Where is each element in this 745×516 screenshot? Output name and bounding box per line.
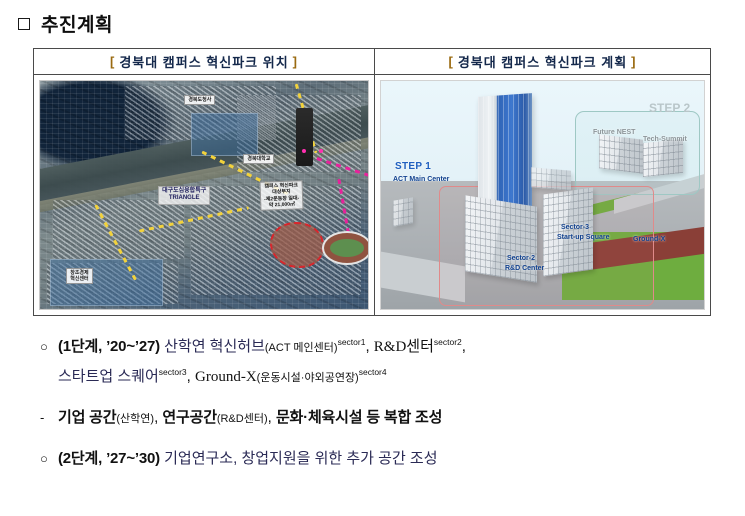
phase2-text: 기업연구소, 창업지원을 위한 추가 공간 조성 — [164, 450, 437, 467]
bullet-spaces-body: 기업 공간(산학연), 연구공간(R&D센터), 문화·체육시설 등 복합 조성 — [58, 405, 720, 432]
bullet-marker: ○ — [40, 334, 58, 360]
render-label-future-nest: Future NEST — [593, 129, 635, 138]
figure-caption-row: [ 경북대 캠퍼스 혁신파크 위치 ] [ 경북대 캠퍼스 혁신파크 계획 ] — [34, 49, 710, 75]
background-building — [393, 197, 413, 227]
spaces-paren-a: (산학연) — [116, 413, 154, 425]
bracket-open-right: [ — [444, 54, 457, 69]
render-label-ground-x: Ground-X — [633, 236, 665, 245]
bullet-item-spaces: - 기업 공간(산학연), 연구공간(R&D센터), 문화·체육시설 등 복합 … — [40, 405, 720, 432]
phase1-text-b: R&D센터 — [374, 339, 434, 355]
dash-marker: - — [40, 405, 58, 431]
future-nest-building — [599, 134, 643, 173]
bracket-open-left: [ — [106, 54, 119, 69]
phase1-sup-sector4: sector4 — [359, 367, 387, 377]
phase1-comma-2: , — [462, 338, 466, 355]
sports-track — [322, 231, 369, 265]
phase1-comma-3: , — [187, 368, 191, 385]
phase1-line2-b: Ground-X — [195, 369, 257, 385]
phase1-line2-paren: (운동시설·야외공연장) — [257, 372, 359, 384]
phase1-sup-sector1: sector1 — [338, 337, 366, 347]
masterplan-render-image: STEP 1 ACT Main Center STEP 2 Future NES… — [380, 80, 705, 310]
bullet-item-phase1: ○ (1단계, ’20~’27) 산학연 혁신허브(ACT 메인센터)secto… — [40, 334, 720, 391]
phase1-sup-sector3: sector3 — [159, 367, 187, 377]
render-label-step1: STEP 1 — [395, 161, 431, 174]
render-label-step1-sub: ACT Main Center — [393, 176, 449, 185]
page-title: 추진계획 — [41, 10, 113, 37]
bullet-phase1-line2: 스타트업 스퀘어sector3, Ground-X(운동시설·야외공연장)sec… — [58, 364, 720, 391]
render-label-sector3: Sector-3 — [561, 224, 589, 233]
render-label-sector2: Sector-2 — [507, 255, 535, 264]
figure-media-row: 경북도청사 경북대학교 대구도심융합특구 TRIANGLE 캠퍼스 혁신파크 대… — [34, 75, 710, 315]
caption-right-text: 경북대 캠퍼스 혁신파크 계획 — [458, 52, 627, 71]
render-label-step2: STEP 2 — [649, 101, 690, 116]
bullet-marker: ○ — [40, 446, 58, 472]
right-figure-cell: STEP 1 ACT Main Center STEP 2 Future NES… — [375, 75, 710, 315]
phase2-label: (2단계, ’27~’30) — [58, 450, 160, 467]
body-text: ○ (1단계, ’20~’27) 산학연 혁신허브(ACT 메인센터)secto… — [40, 326, 720, 474]
bullet-phase1-body: (1단계, ’20~’27) 산학연 혁신허브(ACT 메인센터)sector1… — [58, 334, 720, 391]
spaces-comma-2: , — [268, 409, 272, 426]
phase1-text-a: 산학연 혁신허브 — [164, 338, 265, 355]
aerial-map-image: 경북도청사 경북대학교 대구도심융합특구 TRIANGLE 캠퍼스 혁신파크 대… — [39, 80, 369, 310]
bracket-close-left: ] — [289, 54, 302, 69]
bracket-close-right: ] — [627, 54, 640, 69]
map-label-provincial-office: 경북도청사 — [184, 95, 215, 105]
map-label-target-site: 캠퍼스 혁신파크 대상부지 -제2운동장 일대- 약 21,000㎡ — [259, 181, 303, 211]
page-heading: 추진계획 — [18, 10, 113, 37]
left-figure-cell: 경북도청사 경북대학교 대구도심융합특구 TRIANGLE 캠퍼스 혁신파크 대… — [34, 75, 375, 315]
phase1-label: (1단계, ’20~’27) — [58, 338, 160, 355]
spaces-text-b: 연구공간 — [162, 409, 216, 426]
render-label-sector3-sub: Start-up Square — [557, 234, 610, 243]
map-label-creative-economy-center: 창조경제 혁신센터 — [66, 268, 92, 285]
caption-right: [ 경북대 캠퍼스 혁신파크 계획 ] — [375, 49, 710, 74]
background-building — [531, 167, 571, 190]
phase1-comma-1: , — [365, 338, 369, 355]
phase1-line2-a: 스타트업 스퀘어 — [58, 368, 159, 385]
phase1-paren-a: (ACT 메인센터) — [265, 342, 338, 354]
caption-left-text: 경북대 캠퍼스 혁신파크 위치 — [119, 52, 288, 71]
bullet-phase1-line1: (1단계, ’20~’27) 산학연 혁신허브(ACT 메인센터)sector1… — [58, 334, 720, 361]
render-label-tech-summit: Tech-Summit — [643, 136, 687, 145]
render-label-sector2-sub: R&D Center — [505, 265, 544, 274]
tower-overlay — [296, 108, 313, 166]
spaces-text-c: 문화·체육시설 등 복합 조성 — [276, 409, 442, 426]
campus-plate — [191, 113, 259, 156]
phase1-sup-sector2: sector2 — [434, 337, 462, 347]
spaces-paren-b: (R&D센터) — [217, 413, 268, 425]
figure-table: [ 경북대 캠퍼스 혁신파크 위치 ] [ 경북대 캠퍼스 혁신파크 계획 ] — [33, 48, 711, 316]
map-label-daegu-triangle: 대구도심융합특구 TRIANGLE — [158, 186, 210, 205]
spaces-text-a: 기업 공간 — [58, 409, 116, 426]
caption-left: [ 경북대 캠퍼스 혁신파크 위치 ] — [34, 49, 375, 74]
bullet-item-phase2: ○ (2단계, ’27~’30) 기업연구소, 창업지원을 위한 추가 공간 조… — [40, 446, 720, 472]
square-outline-icon — [18, 18, 30, 30]
map-label-kyungpook-university: 경북대학교 — [243, 154, 274, 164]
bullet-phase2-body: (2단계, ’27~’30) 기업연구소, 창업지원을 위한 추가 공간 조성 — [58, 446, 720, 472]
spaces-comma-1: , — [154, 409, 158, 426]
